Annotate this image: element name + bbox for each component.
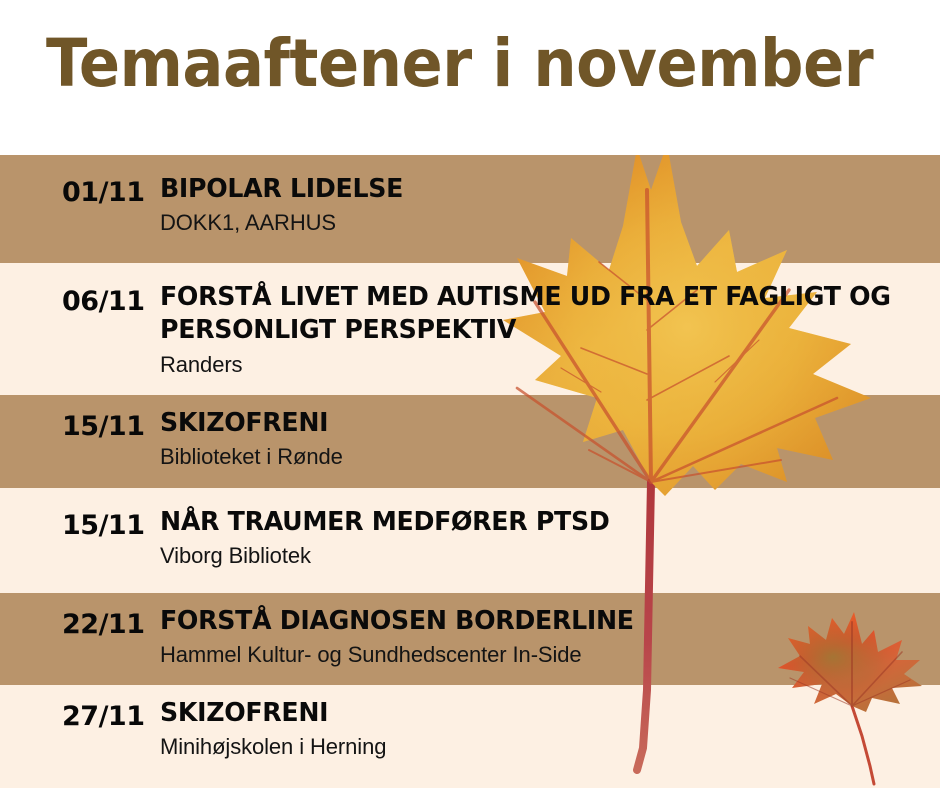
poster-canvas: 01/11 BIPOLAR LIDELSE DOKK1, AARHUS 06/1…: [0, 0, 940, 788]
schedule-band: [0, 395, 940, 488]
schedule-band-stack: [0, 155, 940, 788]
schedule-band: [0, 488, 940, 593]
poster-header: Temaaftener i november: [0, 0, 940, 155]
schedule-band: [0, 593, 940, 685]
schedule-band: [0, 155, 940, 263]
page-title: Temaaftener i november: [46, 28, 873, 101]
schedule-band: [0, 263, 940, 395]
schedule-band: [0, 685, 940, 788]
